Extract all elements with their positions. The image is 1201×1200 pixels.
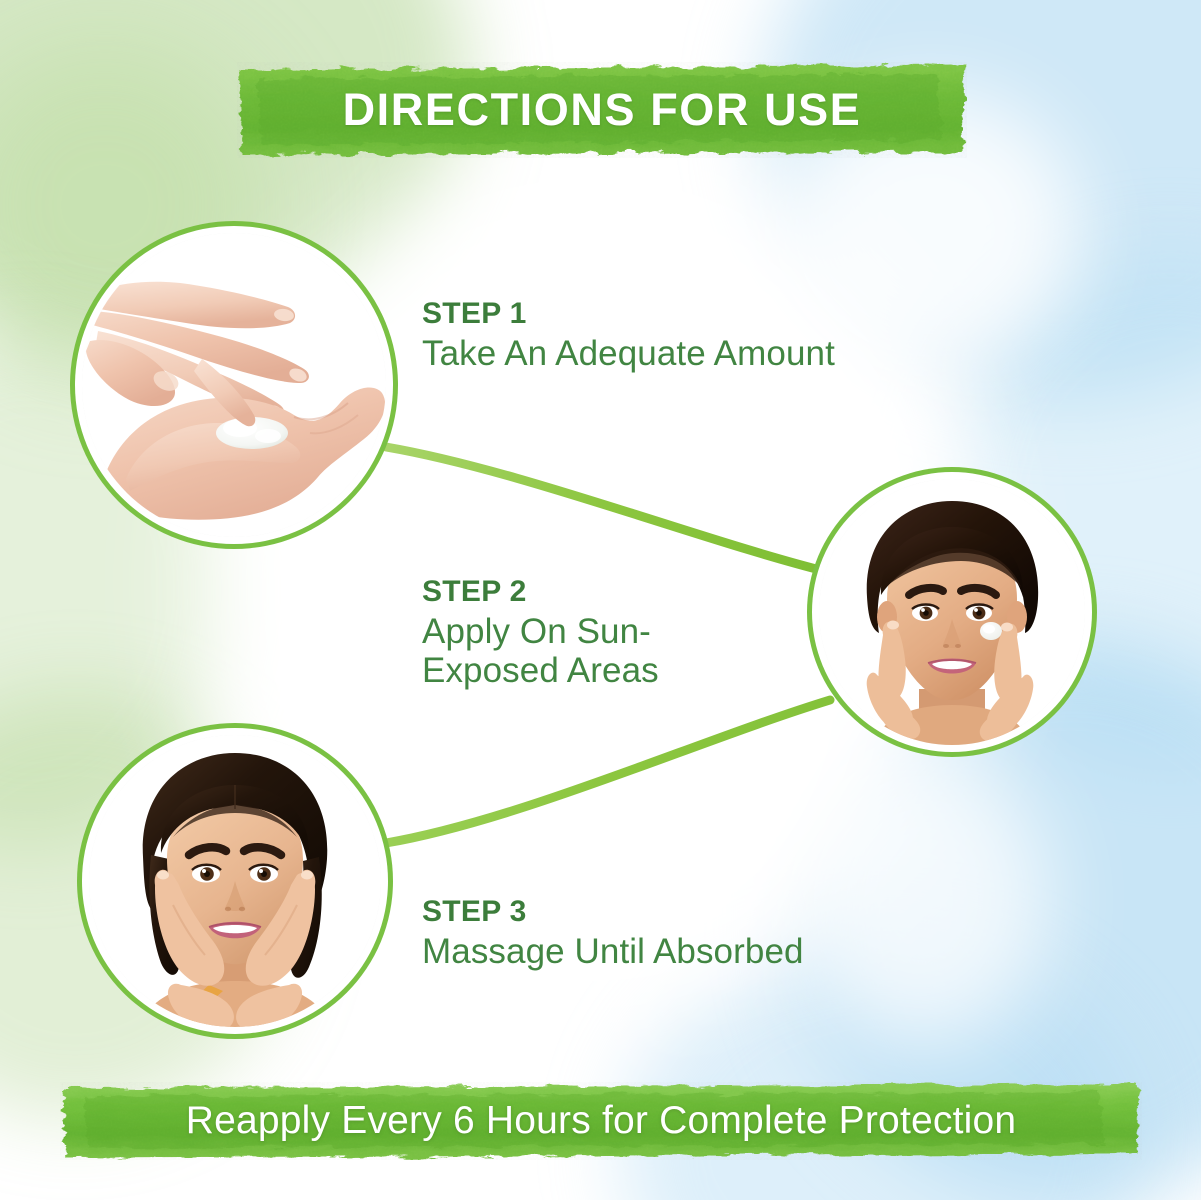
step-3-label: STEP 3 — [422, 896, 804, 928]
woman-massaging-face-icon — [89, 735, 381, 1027]
step-1-text: STEP 1 Take An Adequate Amount — [422, 298, 835, 373]
header-banner: DIRECTIONS FOR USE — [237, 62, 967, 158]
step-3-image-inner — [89, 735, 381, 1027]
step-2-description-line-1: Apply On Sun- — [422, 612, 659, 651]
connector-step3-to-step2 — [386, 700, 830, 843]
woman-applying-cream-to-cheek-icon — [819, 479, 1085, 745]
step-1-image-inner — [82, 233, 386, 537]
step-1-image-circle — [75, 226, 393, 544]
step-2-text: STEP 2 Apply On Sun- Exposed Areas — [422, 576, 659, 690]
step-3-text: STEP 3 Massage Until Absorbed — [422, 896, 804, 971]
footer-banner: Reapply Every 6 Hours for Complete Prote… — [60, 1082, 1142, 1160]
step-2-label: STEP 2 — [422, 576, 659, 608]
connector-step1-to-step2 — [386, 447, 828, 572]
hands-with-cream-icon — [82, 233, 386, 537]
step-2-description-line-2: Exposed Areas — [422, 651, 659, 690]
step-1-description: Take An Adequate Amount — [422, 334, 835, 373]
header-title: DIRECTIONS FOR USE — [343, 84, 862, 136]
step-3-description: Massage Until Absorbed — [422, 932, 804, 971]
step-2-image-circle — [812, 472, 1092, 752]
infographic-canvas: DIRECTIONS FOR USE — [0, 0, 1201, 1200]
step-2-image-inner — [819, 479, 1085, 745]
step-3-image-circle — [82, 728, 388, 1034]
step-1-label: STEP 1 — [422, 298, 835, 330]
footer-text: Reapply Every 6 Hours for Complete Prote… — [186, 1099, 1017, 1143]
